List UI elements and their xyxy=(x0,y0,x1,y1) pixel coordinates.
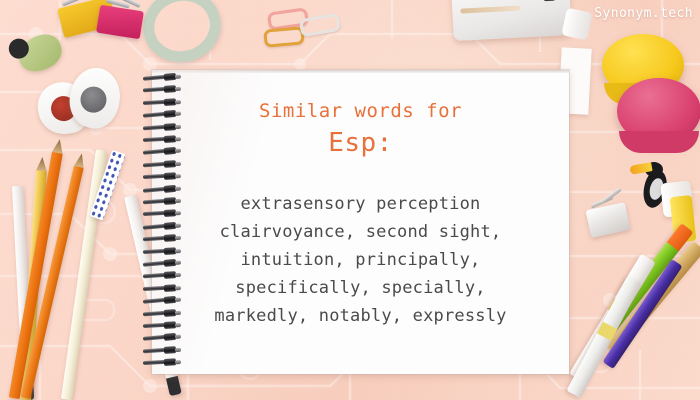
spiral-coil xyxy=(143,321,183,330)
spiral-coil xyxy=(143,295,183,305)
spiral-coil xyxy=(143,135,183,144)
notepad: Similar words for Esp: extrasensory perc… xyxy=(152,70,569,374)
camera-flash xyxy=(543,0,555,1)
spiral-coil xyxy=(143,197,183,207)
spiral-coil xyxy=(143,85,183,95)
spiral-coil xyxy=(143,209,183,218)
macaron-pink xyxy=(617,78,700,144)
synonym-line: extrasensory perception xyxy=(152,190,569,218)
spiral-coil xyxy=(143,258,183,268)
spiral-coil xyxy=(143,184,183,194)
spiral-coil xyxy=(143,308,183,318)
spiral-coil xyxy=(143,247,183,256)
synonym-line: intuition, principally, xyxy=(152,246,569,274)
spiral-coil xyxy=(143,345,183,355)
spiral-coil xyxy=(143,172,183,181)
screenshot-root: Similar words for Esp: extrasensory perc… xyxy=(0,0,700,400)
camera-strap xyxy=(460,6,520,14)
headword: Esp: xyxy=(152,128,569,158)
synonym-line: markedly, notably, expressly xyxy=(152,302,569,330)
spiral-coil xyxy=(143,122,183,132)
spiral-coil xyxy=(143,284,183,293)
spiral-coil xyxy=(143,333,183,343)
page-title: Similar words for xyxy=(152,100,569,122)
spiral-coil xyxy=(143,234,183,244)
notepad-content: Similar words for Esp: extrasensory perc… xyxy=(152,70,569,374)
spiral-coil xyxy=(143,358,183,367)
camera xyxy=(450,0,572,41)
spiral-coil xyxy=(143,147,183,157)
spiral-coil xyxy=(143,72,183,82)
spiral-coil xyxy=(143,221,183,231)
spiral-coil xyxy=(143,159,183,169)
spiral-coil xyxy=(143,109,183,119)
synonym-list: extrasensory perceptionclairvoyance, sec… xyxy=(152,190,569,330)
spiral-coil xyxy=(143,98,183,107)
synonym-line: clairvoyance, second sight, xyxy=(152,218,569,246)
paper-clip-gold xyxy=(263,26,304,47)
synonym-line: specifically, specially, xyxy=(152,274,569,302)
spiral-binding xyxy=(143,74,187,374)
spiral-coil xyxy=(143,271,183,281)
site-logo[interactable]: Synonym.tech xyxy=(594,6,693,21)
